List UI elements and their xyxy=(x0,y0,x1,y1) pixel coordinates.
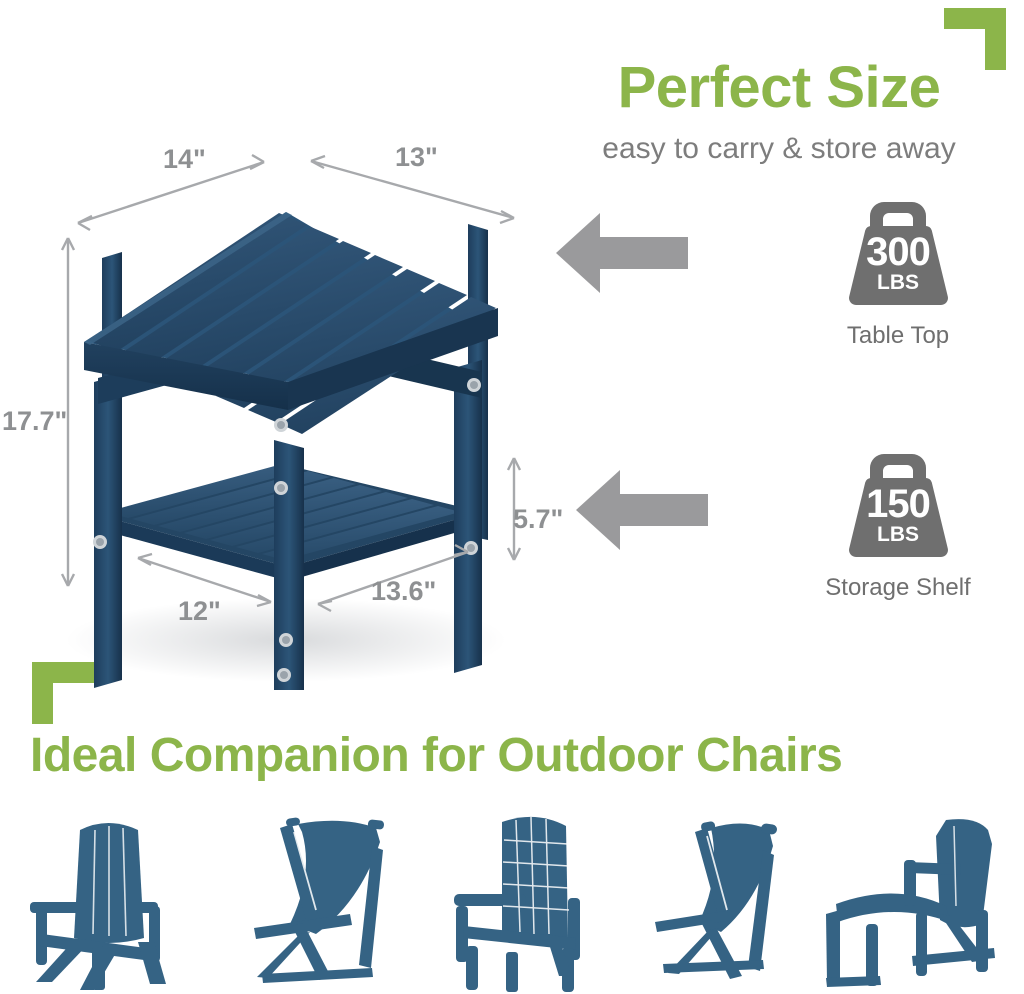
page-title: Perfect Size xyxy=(540,58,1018,119)
product-illustration xyxy=(36,120,576,690)
dimension-label-leg-span: 12" xyxy=(178,596,221,627)
dimension-label-depth-top: 13" xyxy=(395,142,438,173)
capacity-unit: LBS xyxy=(836,271,960,295)
capacity-value: 300 xyxy=(836,230,960,275)
capacity-badge-table-top: 300 LBS Table Top xyxy=(778,196,1018,350)
weight-icon: 300 LBS xyxy=(836,196,960,314)
infographic-canvas: Perfect Size easy to carry & store away xyxy=(0,0,1024,994)
lattice-back-adirondack-chair-icon xyxy=(450,806,610,994)
dimension-label-height: 17.7" xyxy=(2,406,67,437)
capacity-value: 150 xyxy=(836,482,960,527)
pointer-arrow-storage-shelf-icon xyxy=(576,470,708,550)
pointer-arrow-table-top-icon xyxy=(556,213,688,293)
chaise-lounger-icon xyxy=(820,806,1010,994)
dimension-label-width-top: 14" xyxy=(163,144,206,175)
side-table-drawing xyxy=(36,120,576,690)
capacity-caption: Table Top xyxy=(778,322,1018,350)
weight-icon: 150 LBS xyxy=(836,448,960,566)
page-subtitle: easy to carry & store away xyxy=(540,132,1018,166)
folding-beach-chair-icon xyxy=(240,806,412,994)
chair-silhouette-row xyxy=(0,806,1024,994)
dimension-label-shelf-height: 5.7" xyxy=(513,504,563,535)
capacity-unit: LBS xyxy=(836,523,960,547)
capacity-caption: Storage Shelf xyxy=(778,574,1018,602)
dimension-label-shelf-depth: 13.6" xyxy=(371,576,436,607)
deck-sling-chair-icon xyxy=(645,806,805,994)
capacity-badge-storage-shelf: 150 LBS Storage Shelf xyxy=(778,448,1018,602)
section-heading-outdoor-chairs: Ideal Companion for Outdoor Chairs xyxy=(30,728,994,783)
adirondack-chair-icon xyxy=(18,806,198,994)
